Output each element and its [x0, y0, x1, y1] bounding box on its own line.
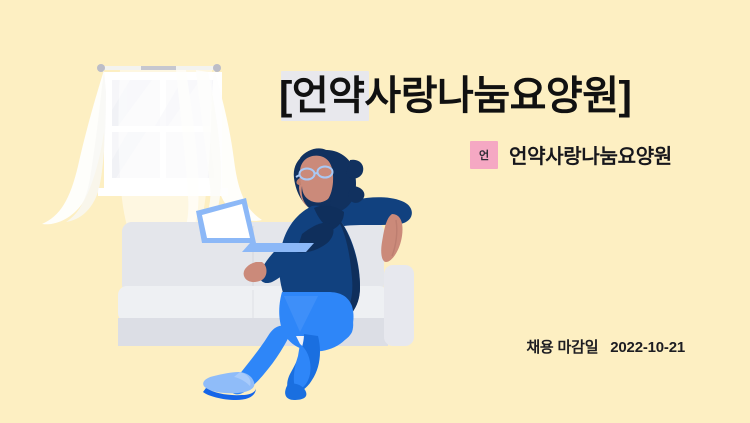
company-name: 언약사랑나눔요양원 — [509, 140, 672, 169]
deadline-row: 채용 마감일 2022-10-21 — [250, 336, 685, 357]
illustration-person-with-laptop — [0, 0, 470, 423]
company-logo-badge: 언 — [470, 141, 498, 169]
company-row: 언 언약사랑나눔요양원 — [470, 140, 672, 169]
job-posting-poster: [언약사랑나눔요양원] 언 언약사랑나눔요양원 채용 마감일 2022-10-2… — [0, 0, 750, 423]
deadline-label: 채용 마감일 — [526, 339, 598, 356]
sofa-graphic — [118, 222, 414, 346]
page-title: [언약사랑나눔요양원] — [279, 66, 631, 126]
deadline-date: 2022-10-21 — [610, 339, 685, 356]
poster-title: [언약사랑나눔요양원] — [279, 66, 699, 128]
